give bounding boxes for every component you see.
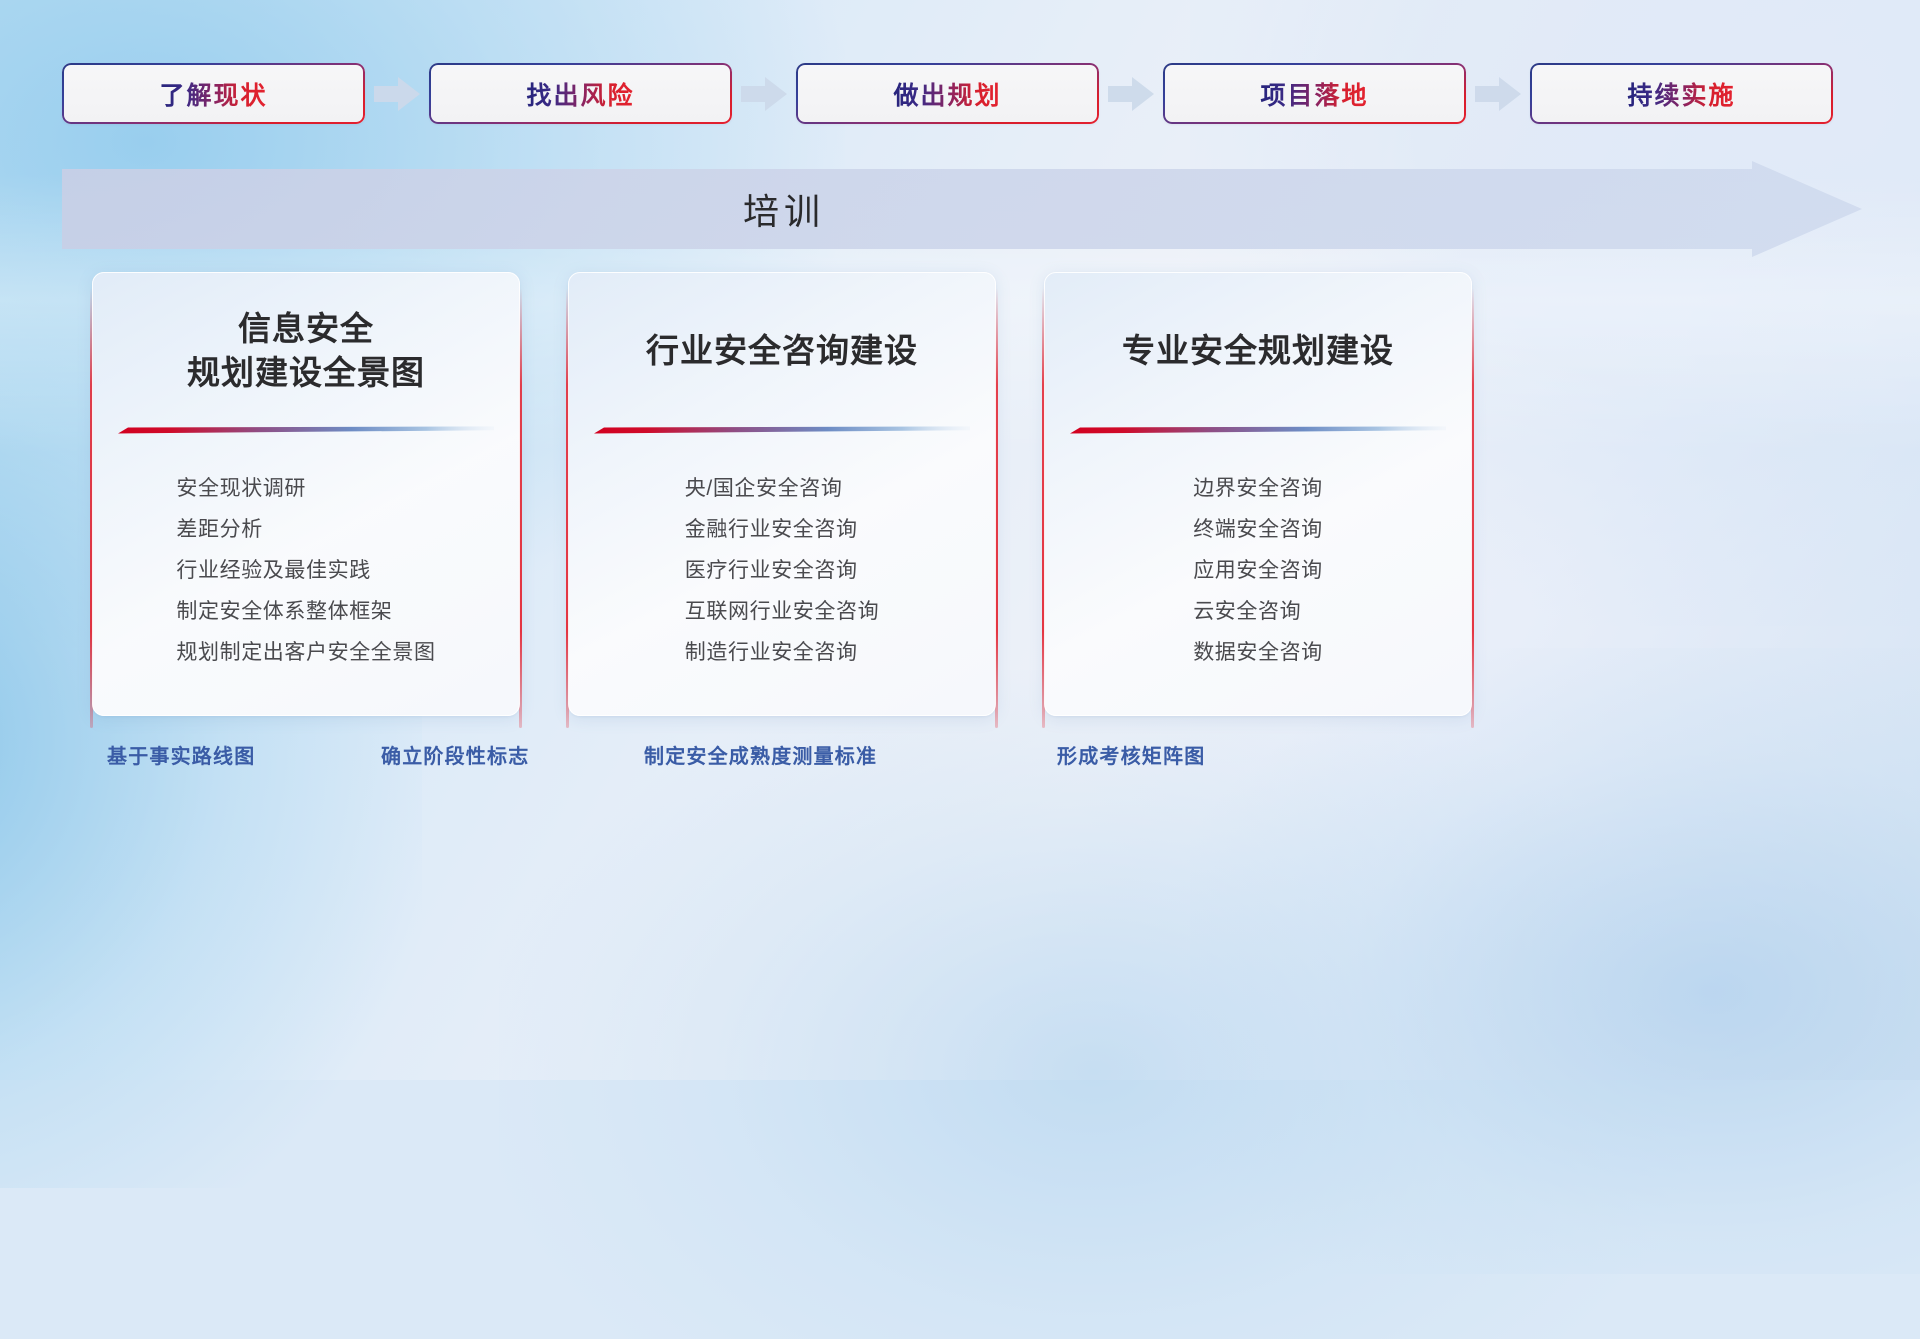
step-chip-3[interactable]: 项目落地: [1163, 63, 1466, 124]
list-item: 央/国企安全咨询: [685, 468, 879, 509]
caption-maturity-standard: 制定安全成熟度测量标准: [644, 740, 877, 769]
card-divider-rule: [594, 426, 970, 435]
arrow-right-icon: [374, 77, 420, 111]
list-item: 数据安全咨询: [1193, 632, 1323, 673]
list-item: 应用安全咨询: [1193, 550, 1323, 591]
arrow-right-icon: [1475, 77, 1521, 111]
process-step-row: 了解现状 找出风险 做出规划 项目落地 持续实施: [62, 63, 1858, 124]
card-industry-security-consulting[interactable]: 行业安全咨询建设 央/国企安全咨询: [568, 272, 996, 716]
card-information-security-panorama[interactable]: 信息安全 规划建设全景图 安全现状调: [92, 272, 520, 716]
card-divider-rule: [1070, 426, 1446, 435]
list-item: 规划制定出客户安全全景图: [176, 632, 435, 673]
step-chip-label: 了解现状: [159, 76, 267, 112]
card-title-line: 专业安全规划建设: [1122, 329, 1394, 373]
caption-assessment-matrix: 形成考核矩阵图: [1057, 740, 1205, 769]
list-item: 制定安全体系整体框架: [176, 591, 435, 632]
step-chip-1[interactable]: 找出风险: [429, 63, 732, 124]
list-item: 互联网行业安全咨询: [685, 591, 879, 632]
arrow-right-icon: [1108, 77, 1154, 111]
step-chip-0[interactable]: 了解现状: [62, 63, 365, 124]
list-item: 制造行业安全咨询: [685, 632, 879, 673]
list-item: 安全现状调研: [176, 468, 435, 509]
step-chip-label: 做出规划: [893, 76, 1001, 112]
card-title: 行业安全咨询建设: [568, 272, 996, 430]
step-chip-4[interactable]: 持续实施: [1530, 63, 1833, 124]
arrow-right-icon: [741, 77, 787, 111]
card-title-line: 规划建设全景图: [187, 351, 425, 395]
list-item: 金融行业安全咨询: [685, 509, 879, 550]
card-title: 信息安全 规划建设全景图: [92, 272, 520, 430]
list-item: 差距分析: [176, 509, 435, 550]
card-professional-security-planning[interactable]: 专业安全规划建设 边界安全咨询: [1044, 272, 1472, 716]
caption-roadmap: 基于事实路线图: [107, 740, 255, 769]
card-item-list: 边界安全咨询 终端安全咨询 应用安全咨询 云安全咨询 数据安全咨询: [1044, 468, 1472, 673]
card-title-line: 行业安全咨询建设: [646, 329, 918, 373]
card-title-line: 信息安全: [238, 307, 374, 351]
list-item: 行业经验及最佳实践: [176, 550, 435, 591]
step-chip-label: 找出风险: [526, 76, 634, 112]
list-item: 云安全咨询: [1193, 591, 1323, 632]
card-row: 信息安全 规划建设全景图 安全现状调: [0, 272, 1568, 722]
step-chip-label: 项目落地: [1260, 76, 1368, 112]
list-item: 终端安全咨询: [1193, 509, 1323, 550]
card-item-list: 央/国企安全咨询 金融行业安全咨询 医疗行业安全咨询 互联网行业安全咨询 制造行…: [568, 468, 996, 673]
step-chip-label: 持续实施: [1627, 76, 1735, 112]
list-item: 边界安全咨询: [1193, 468, 1323, 509]
caption-milestones: 确立阶段性标志: [381, 740, 529, 769]
step-chip-2[interactable]: 做出规划: [796, 63, 1099, 124]
caption-row: 基于事实路线图 确立阶段性标志 制定安全成熟度测量标准 形成考核矩阵图: [0, 740, 1568, 786]
card-divider-rule: [118, 426, 494, 435]
card-item-list: 安全现状调研 差距分析 行业经验及最佳实践 制定安全体系整体框架 规划制定出客户…: [92, 468, 520, 673]
banner-title: 培训: [0, 161, 1568, 257]
card-title: 专业安全规划建设: [1044, 272, 1472, 430]
list-item: 医疗行业安全咨询: [685, 550, 879, 591]
